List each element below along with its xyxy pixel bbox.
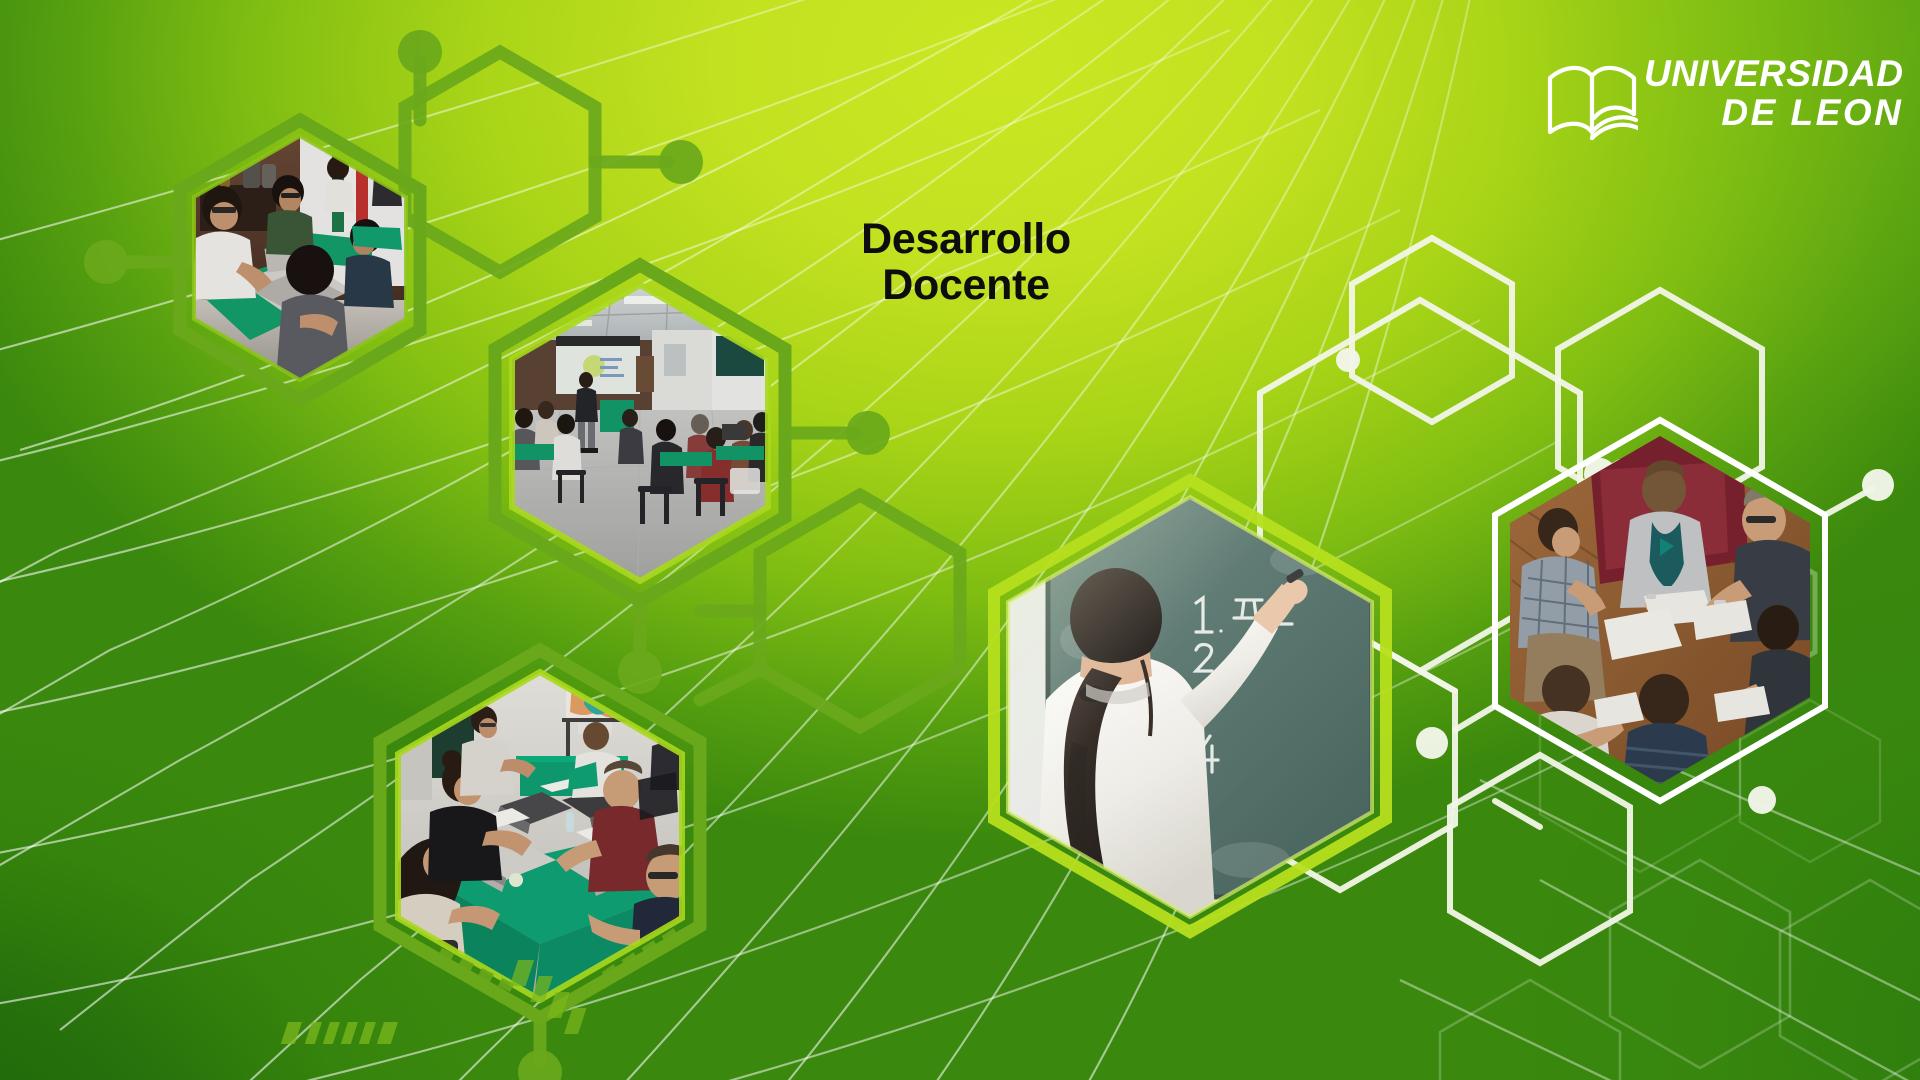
title-line-1: Desarrollo bbox=[830, 218, 1102, 261]
page-title: Desarrollo Docente bbox=[830, 218, 1102, 307]
logo-wordmark: UNIVERSIDAD DE LEON bbox=[1644, 52, 1903, 131]
logo-line-1: UNIVERSIDAD bbox=[1644, 56, 1903, 92]
banner-root: Desarrollo Docente UNIVERSIDAD DE LEON bbox=[0, 0, 1920, 1080]
title-line-2: Docente bbox=[830, 264, 1102, 307]
logo-line-2: DE LEON bbox=[1721, 94, 1903, 132]
university-logo: UNIVERSIDAD DE LEON bbox=[1546, 52, 1876, 164]
open-book-icon bbox=[1546, 52, 1638, 152]
